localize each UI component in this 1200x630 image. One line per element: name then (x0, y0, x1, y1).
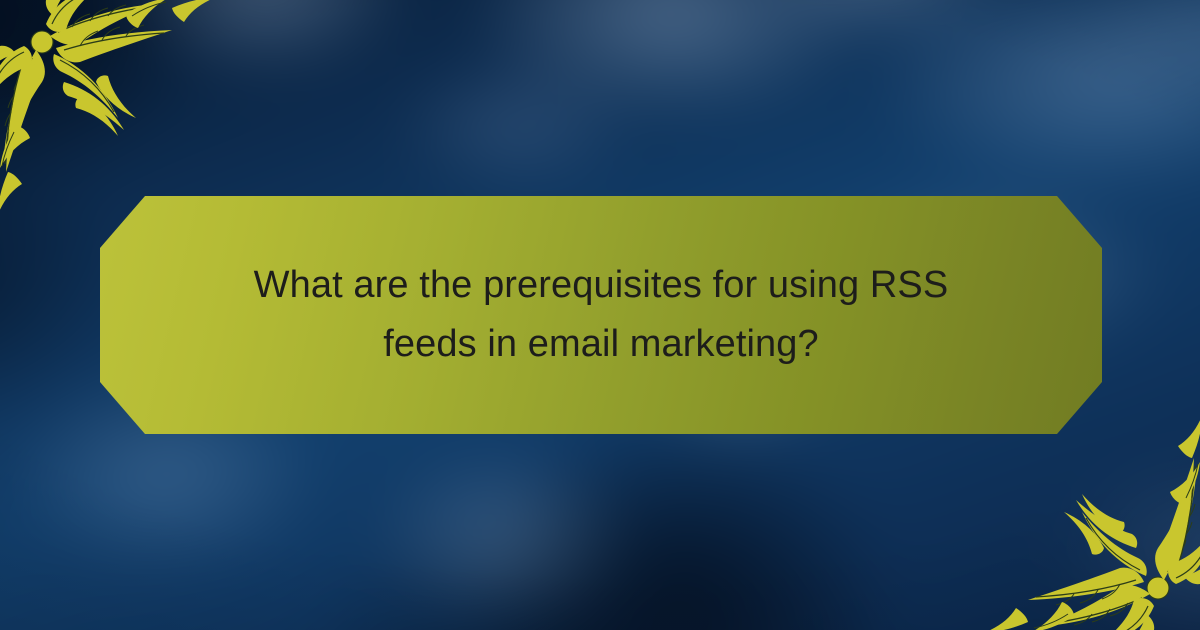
question-card: What are the prerequisites for using RSS… (0, 0, 1200, 630)
question-banner-inner: What are the prerequisites for using RSS… (206, 256, 996, 374)
question-banner: What are the prerequisites for using RSS… (100, 196, 1102, 434)
question-title: What are the prerequisites for using RSS… (206, 256, 996, 374)
